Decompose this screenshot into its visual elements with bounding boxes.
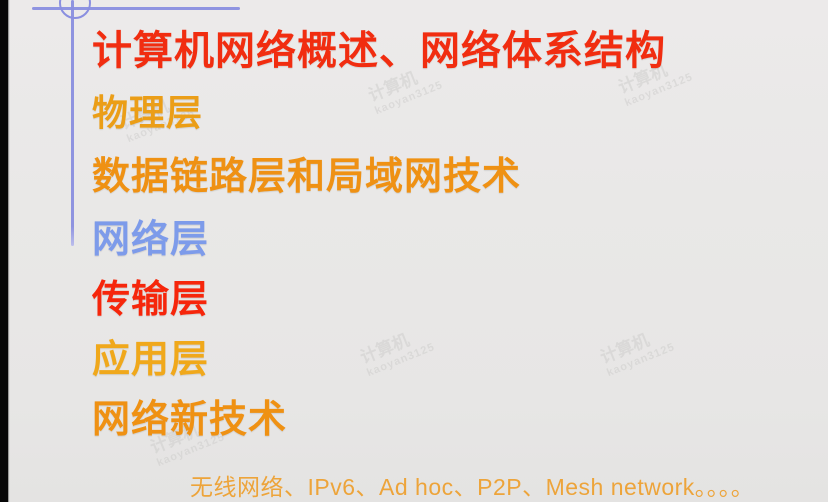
heading-line-1: 计算机网络概述、网络体系结构 — [92, 18, 666, 76]
heading-line-2: 物理层 — [92, 84, 203, 136]
left-black-bar — [0, 0, 8, 502]
slide-canvas: 计算机 kaoyan3125 计算机 kaoyan3125 计算机 kaoyan… — [0, 0, 828, 502]
footer-caption: 无线网络、IPv6、Ad hoc、P2P、Mesh network。。。。 — [190, 468, 754, 502]
heading-line-4: 网络层 — [92, 208, 209, 263]
heading-line-7: 网络新技术 — [92, 388, 287, 443]
left-bar-edge — [8, 0, 10, 502]
annotation-vertical-line — [71, 0, 74, 246]
heading-line-5: 传输层 — [92, 268, 209, 323]
heading-line-3: 数据链路层和局域网技术 — [92, 145, 521, 200]
heading-line-6: 应用层 — [92, 328, 209, 383]
